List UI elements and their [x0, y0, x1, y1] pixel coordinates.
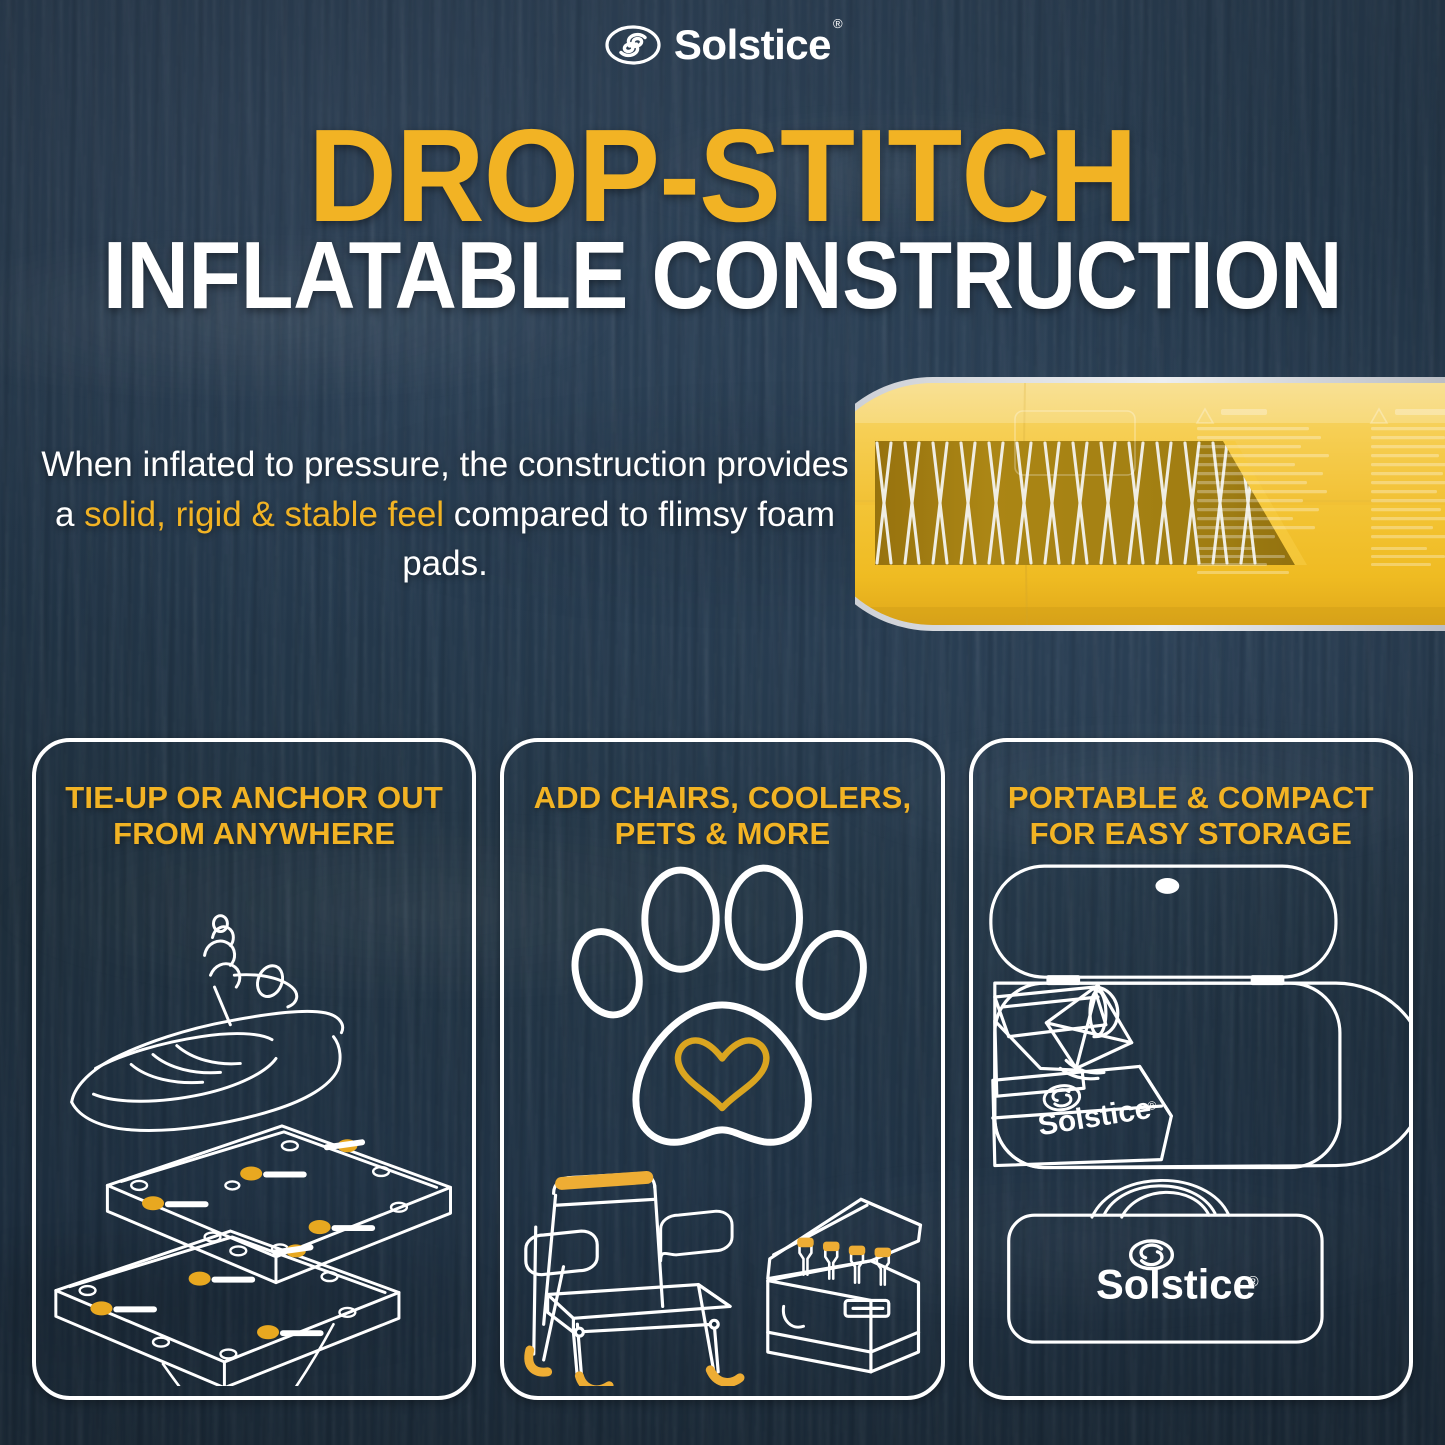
heart-icon — [678, 1040, 766, 1108]
svg-text:®: ® — [1247, 1275, 1258, 1291]
feature-card-title: TIE-UP OR ANCHOR OUT FROM ANYWHERE — [48, 780, 460, 852]
feature-card-title: ADD CHAIRS, COOLERS, PETS & MORE — [516, 780, 928, 852]
svg-text:Solstice: Solstice — [1096, 1260, 1256, 1307]
paw-print-and-chair-cooler-icon — [504, 846, 940, 1386]
drop-stitch-tube-illustration — [855, 375, 1445, 633]
intro-paragraph: When inflated to pressure, the construct… — [30, 440, 860, 589]
feature-card-row: TIE-UP OR ANCHOR OUT FROM ANYWHERE — [32, 738, 1413, 1400]
storage-trunk-and-carry-bag-icon: Solstice ® — [973, 846, 1409, 1386]
brand-logo: Solstice® — [0, 24, 1445, 66]
feature-card-portable-compact[interactable]: PORTABLE & COMPACT FOR EASY STORAGE — [969, 738, 1413, 1400]
svg-text:®: ® — [1146, 1098, 1157, 1113]
feature-card-chairs-coolers-pets[interactable]: ADD CHAIRS, COOLERS, PETS & MORE — [500, 738, 944, 1400]
feature-card-title: PORTABLE & COMPACT FOR EASY STORAGE — [985, 780, 1397, 852]
jet-ski-tied-to-inflatable-dock-icon — [36, 846, 472, 1386]
feature-card-tie-up-anchor[interactable]: TIE-UP OR ANCHOR OUT FROM ANYWHERE — [32, 738, 476, 1400]
solstice-oval-swirl-logo-icon — [605, 25, 661, 65]
infographic-canvas: Solstice® DROP-STITCH INFLATABLE CONSTRU… — [0, 0, 1445, 1445]
page-title-secondary: INFLATABLE CONSTRUCTION — [72, 228, 1373, 324]
registered-mark: ® — [833, 16, 842, 31]
intro-highlight: solid, rigid & stable feel — [84, 495, 444, 534]
intro-text-part2: compared to flimsy foam pads. — [402, 495, 835, 584]
brand-name: Solstice® — [674, 24, 840, 66]
